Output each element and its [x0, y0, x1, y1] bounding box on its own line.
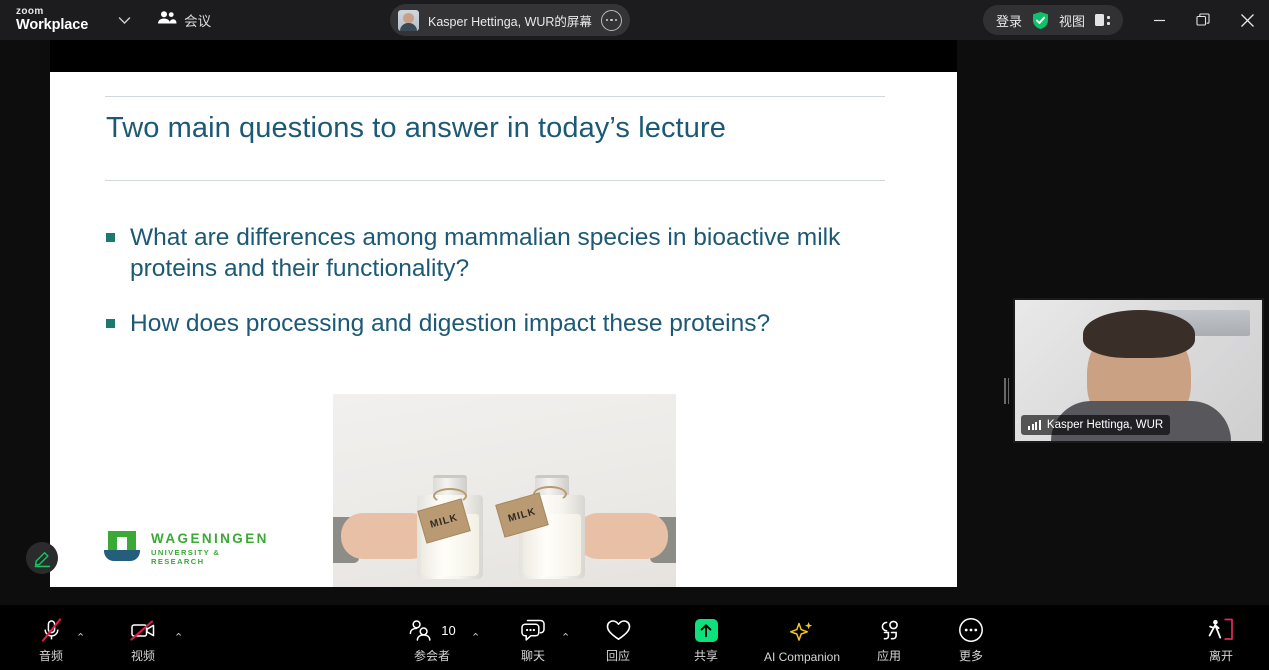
zoom-workplace-logo: zoom Workplace — [16, 7, 88, 33]
video-button[interactable]: 视频 — [110, 616, 176, 664]
participant-name-badge: Kasper Hettinga, WUR — [1021, 415, 1170, 435]
layout-view-icon[interactable] — [1095, 14, 1110, 26]
slide-rule-top — [105, 96, 885, 97]
wageningen-logo: WAGENINGEN UNIVERSITY & RESEARCH — [104, 529, 274, 565]
leave-meeting-icon — [1206, 616, 1236, 644]
meetings-label: 会议 — [184, 10, 211, 30]
leave-label: 离开 — [1209, 647, 1233, 664]
share-screen-icon — [695, 616, 718, 644]
signin-view-pill: 登录 视图 — [983, 5, 1123, 35]
panel-collapse-handle[interactable] — [1004, 378, 1009, 404]
more-button[interactable]: 更多 — [938, 616, 1004, 664]
slide-rule-bottom — [105, 180, 885, 181]
video-options-caret[interactable]: ⌃ — [174, 631, 183, 644]
zoom-meeting-window: zoom Workplace 会议 Kasper Hettinga, WUR的屏… — [0, 0, 1269, 670]
shared-screen-region[interactable]: Two main questions to answer in today’s … — [50, 40, 957, 587]
apps-button[interactable]: 应用 — [856, 616, 922, 664]
ai-companion-button[interactable]: AI Companion — [756, 619, 848, 664]
view-button[interactable]: 视图 — [1059, 11, 1085, 30]
window-right-controls: 登录 视图 — [983, 0, 1269, 40]
participants-count: 10 — [441, 623, 455, 638]
apps-icon — [876, 616, 902, 644]
close-icon[interactable] — [1225, 0, 1269, 40]
ai-sparkle-icon — [788, 619, 816, 647]
chat-bubble-icon — [520, 616, 547, 644]
participants-icon: 10 — [408, 616, 455, 644]
wageningen-mark-icon — [104, 531, 140, 561]
participant-name: Kasper Hettinga, WUR — [1047, 419, 1163, 431]
slide-title: Two main questions to answer in today’s … — [106, 112, 906, 145]
right-hand — [576, 513, 668, 559]
list-item: What are differences among mammalian spe… — [106, 222, 906, 284]
network-signal-bars-icon — [1028, 420, 1041, 430]
ai-companion-label: AI Companion — [764, 650, 840, 664]
logo-subtitle: UNIVERSITY & RESEARCH — [151, 548, 274, 566]
chat-button[interactable]: 聊天 — [500, 616, 566, 664]
bullet-text: What are differences among mammalian spe… — [130, 222, 906, 284]
share-screen-button[interactable]: 共享 — [673, 616, 739, 664]
more-label: 更多 — [959, 647, 983, 664]
audio-label: 音频 — [39, 647, 63, 664]
title-bar: zoom Workplace 会议 Kasper Hettinga, WUR的屏… — [0, 0, 1269, 40]
meeting-stage: Two main questions to answer in today’s … — [0, 40, 1269, 605]
participants-button[interactable]: 10 参会者 — [392, 616, 472, 664]
leave-meeting-button[interactable]: 离开 — [1188, 616, 1254, 664]
participants-caret[interactable]: ⌃ — [471, 631, 480, 644]
brand-workplace-text: Workplace — [16, 18, 88, 33]
slide-bullet-list: What are differences among mammalian spe… — [106, 222, 906, 363]
square-bullet-icon — [106, 319, 115, 328]
participants-label: 参会者 — [414, 647, 450, 664]
restore-window-icon[interactable] — [1181, 0, 1225, 40]
video-label: 视频 — [131, 647, 155, 664]
logo-name: WAGENINGEN — [151, 531, 269, 546]
audio-options-caret[interactable]: ⌃ — [76, 631, 85, 644]
microphone-muted-icon — [38, 616, 65, 644]
reactions-label: 回应 — [606, 647, 630, 664]
meeting-controls-toolbar: 音频 ⌃ 视频 ⌃ 10 — [0, 605, 1269, 670]
share-title: Kasper Hettinga, WUR的屏幕 — [428, 11, 601, 30]
minimize-icon[interactable] — [1137, 0, 1181, 40]
audio-button[interactable]: 音频 — [18, 616, 84, 664]
more-dots-icon — [958, 616, 984, 644]
heart-reaction-icon — [605, 616, 632, 644]
signin-button[interactable]: 登录 — [996, 11, 1022, 30]
presentation-slide: Two main questions to answer in today’s … — [50, 72, 957, 587]
annotate-pen-button[interactable] — [26, 542, 58, 574]
chat-caret[interactable]: ⌃ — [561, 631, 570, 644]
camera-muted-icon — [128, 616, 158, 644]
security-shield-icon[interactable] — [1032, 11, 1049, 30]
chat-label: 聊天 — [521, 647, 545, 664]
participant-video-tile[interactable]: Kasper Hettinga, WUR — [1013, 298, 1264, 443]
milk-bottles-photo: MILK MILK — [333, 394, 676, 587]
pencil-annotate-icon — [33, 549, 52, 568]
screen-share-status-bar[interactable]: Kasper Hettinga, WUR的屏幕 — [390, 4, 630, 36]
square-bullet-icon — [106, 233, 115, 242]
meetings-tab[interactable]: 会议 — [157, 10, 211, 30]
more-options-icon[interactable] — [601, 10, 622, 31]
bullet-text: How does processing and digestion impact… — [130, 308, 770, 339]
reactions-button[interactable]: 回应 — [585, 616, 651, 664]
presenter-avatar — [398, 10, 419, 31]
people-icon — [157, 10, 177, 30]
apps-label: 应用 — [877, 647, 901, 664]
brand-dropdown-caret[interactable] — [118, 16, 131, 25]
list-item: How does processing and digestion impact… — [106, 308, 906, 339]
share-label: 共享 — [694, 647, 718, 664]
